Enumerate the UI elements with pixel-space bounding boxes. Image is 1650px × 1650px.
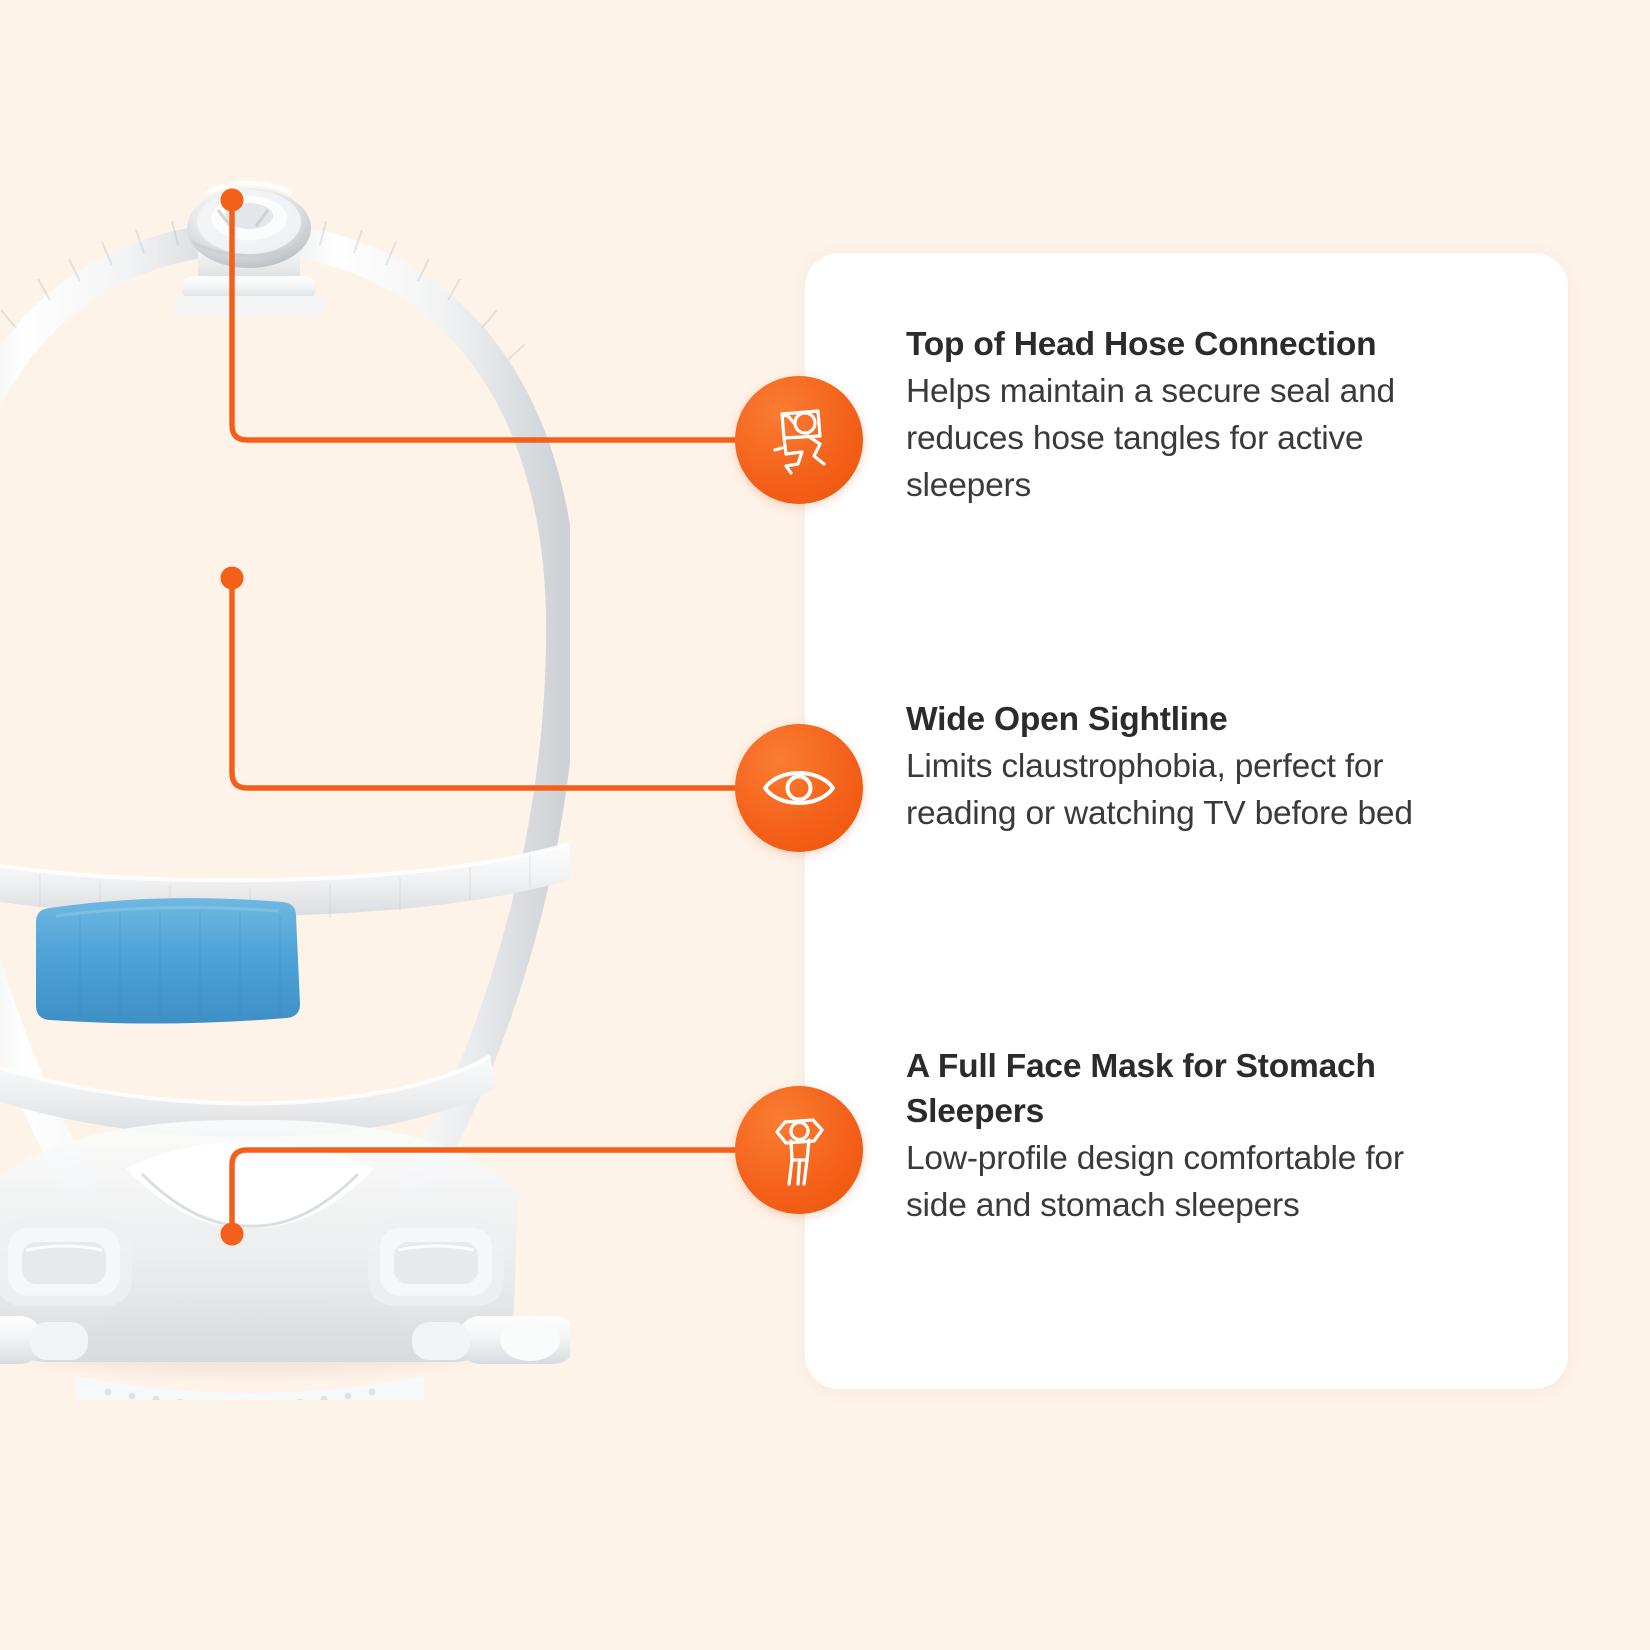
headgear-frame (0, 216, 562, 1185)
feature-description: Low-profile design comfortable for side … (906, 1135, 1466, 1229)
stomach-sleeper-icon[interactable] (735, 1086, 863, 1214)
mask-clip-right (412, 1316, 570, 1364)
vent-diffuser (76, 1376, 424, 1400)
blue-cushion-pad (36, 898, 300, 1023)
feature-title: Top of Head Hose Connection (906, 322, 1466, 367)
feature-description: Helps maintain a secure seal and reduces… (906, 368, 1466, 509)
feature-title: Wide Open Sightline (906, 697, 1466, 742)
product-image: ResMed (0, 150, 570, 1400)
active-sleeper-icon[interactable] (735, 376, 863, 504)
feature-text-block: Top of Head Hose Connection Helps mainta… (906, 322, 1466, 509)
mask-cushion-assembly (0, 1120, 570, 1400)
feature-title: A Full Face Mask for Stomach Sleepers (906, 1044, 1466, 1134)
eye-icon[interactable] (735, 724, 863, 852)
feature-description: Limits claustrophobia, perfect for readi… (906, 743, 1466, 837)
mask-clip-left (0, 1316, 88, 1364)
infographic-canvas: ResMed (0, 0, 1650, 1650)
feature-text-block: Wide Open Sightline Limits claustrophobi… (906, 697, 1466, 837)
feature-text-block: A Full Face Mask for Stomach Sleepers Lo… (906, 1044, 1466, 1229)
